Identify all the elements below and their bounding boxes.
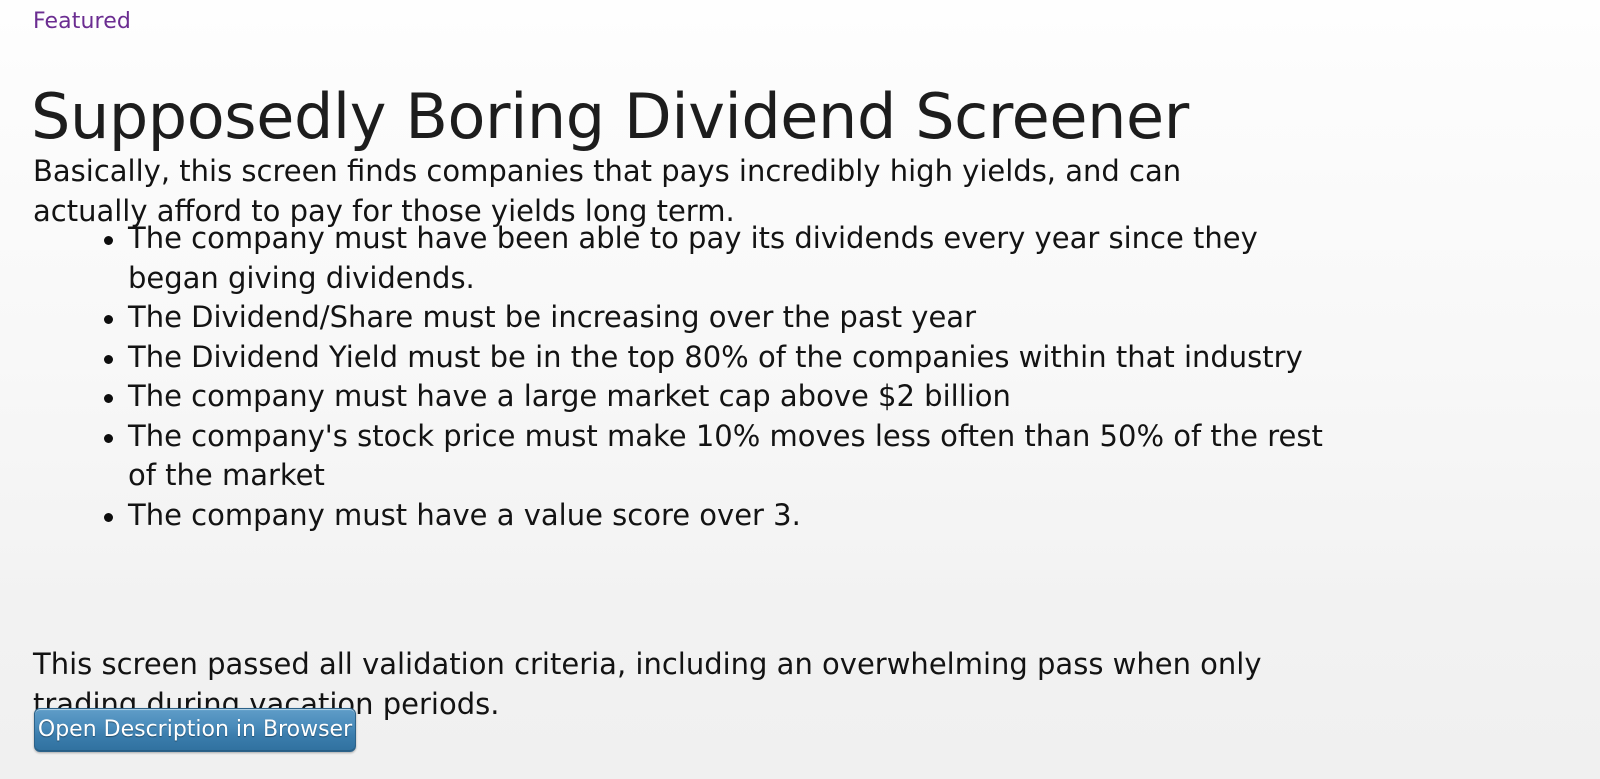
list-item-label: The company must have a value score over… bbox=[128, 498, 801, 532]
list-item: The Dividend/Share must be increasing ov… bbox=[98, 298, 1328, 338]
list-item-label: The company must have been able to pay i… bbox=[128, 221, 1258, 295]
list-item-label: The Dividend Yield must be in the top 80… bbox=[128, 340, 1303, 374]
list-item: The company must have a value score over… bbox=[98, 496, 1328, 536]
featured-label: Featured bbox=[33, 7, 131, 37]
list-item-label: The Dividend/Share must be increasing ov… bbox=[128, 300, 976, 334]
list-item-label: The company's stock price must make 10% … bbox=[128, 419, 1323, 493]
open-description-in-browser-button[interactable]: Open Description in Browser bbox=[34, 708, 356, 752]
criteria-list: The company must have been able to pay i… bbox=[98, 219, 1328, 535]
bullet-dot-icon bbox=[104, 394, 113, 403]
bullet-dot-icon bbox=[104, 434, 113, 443]
list-item: The company must have a large market cap… bbox=[98, 377, 1328, 417]
page-title: Supposedly Boring Dividend Screener bbox=[31, 80, 1189, 154]
bullet-dot-icon bbox=[104, 315, 113, 324]
list-item: The company's stock price must make 10% … bbox=[98, 417, 1328, 496]
bullet-dot-icon bbox=[104, 513, 113, 522]
screener-description-panel: Featured Supposedly Boring Dividend Scre… bbox=[0, 0, 1600, 779]
list-item: The Dividend Yield must be in the top 80… bbox=[98, 338, 1328, 378]
list-item: The company must have been able to pay i… bbox=[98, 219, 1328, 298]
bullet-dot-icon bbox=[104, 355, 113, 364]
list-item-label: The company must have a large market cap… bbox=[128, 379, 1011, 413]
bullet-dot-icon bbox=[104, 236, 113, 245]
